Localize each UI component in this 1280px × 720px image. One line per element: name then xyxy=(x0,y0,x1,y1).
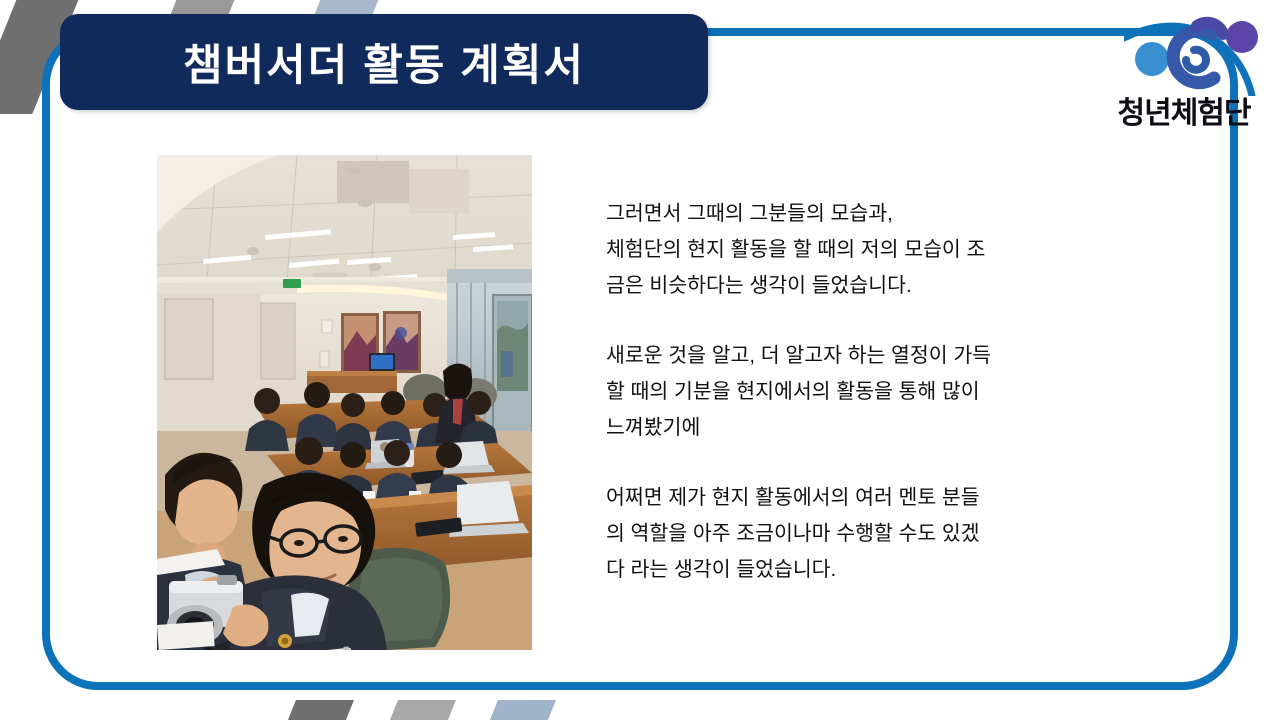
page-title: 챔버서더 활동 계획서 xyxy=(183,31,585,93)
circular-swirl-logo-mark xyxy=(1124,4,1270,96)
presentation-slide: 챔버서더 활동 계획서 청년체험단 xyxy=(0,0,1280,720)
paragraph-2-line-3: 느껴봤기에 xyxy=(606,410,1136,446)
paragraph-3: 어쩌면 제가 현지 활동에서의 여러 멘토 분들 의 역할을 아주 조금이나마 … xyxy=(606,480,1136,588)
paragraph-1-line-2: 체험단의 현지 활동을 할 때의 저의 모습이 조 xyxy=(606,232,1136,268)
conference-room-students-photo xyxy=(157,155,532,650)
paragraph-1: 그러면서 그때의 그분들의 모습과, 체험단의 현지 활동을 할 때의 저의 모… xyxy=(606,196,1136,304)
body-text-block: 그러면서 그때의 그분들의 모습과, 체험단의 현지 활동을 할 때의 저의 모… xyxy=(606,196,1136,588)
slide-title-plate: 챔버서더 활동 계획서 xyxy=(60,14,708,110)
photo-illustration xyxy=(157,155,532,650)
decor-stripe-bottom-dark xyxy=(285,700,354,720)
paragraph-3-line-3: 다 라는 생각이 들었습니다. xyxy=(606,552,1136,588)
logo-wordmark: 청년체험단 xyxy=(1096,88,1272,132)
paragraph-2-line-1: 새로운 것을 알고, 더 알고자 하는 열정이 가득 xyxy=(606,338,1136,374)
decor-stripe-bottom-mid xyxy=(387,700,456,720)
paragraph-2-line-2: 할 때의 기분을 현지에서의 활동을 통해 많이 xyxy=(606,374,1136,410)
organization-logo: 청년체험단 xyxy=(1096,4,1272,136)
paragraph-2: 새로운 것을 알고, 더 알고자 하는 열정이 가득 할 때의 기분을 현지에서… xyxy=(606,338,1136,446)
paragraph-3-line-2: 의 역할을 아주 조금이나마 수행할 수도 있겠 xyxy=(606,516,1136,552)
paragraph-1-line-3: 금은 비슷하다는 생각이 들었습니다. xyxy=(606,268,1136,304)
paragraph-1-line-1: 그러면서 그때의 그분들의 모습과, xyxy=(606,196,1136,232)
paragraph-3-line-1: 어쩌면 제가 현지 활동에서의 여러 멘토 분들 xyxy=(606,480,1136,516)
decor-stripe-bottom-light xyxy=(487,700,556,720)
